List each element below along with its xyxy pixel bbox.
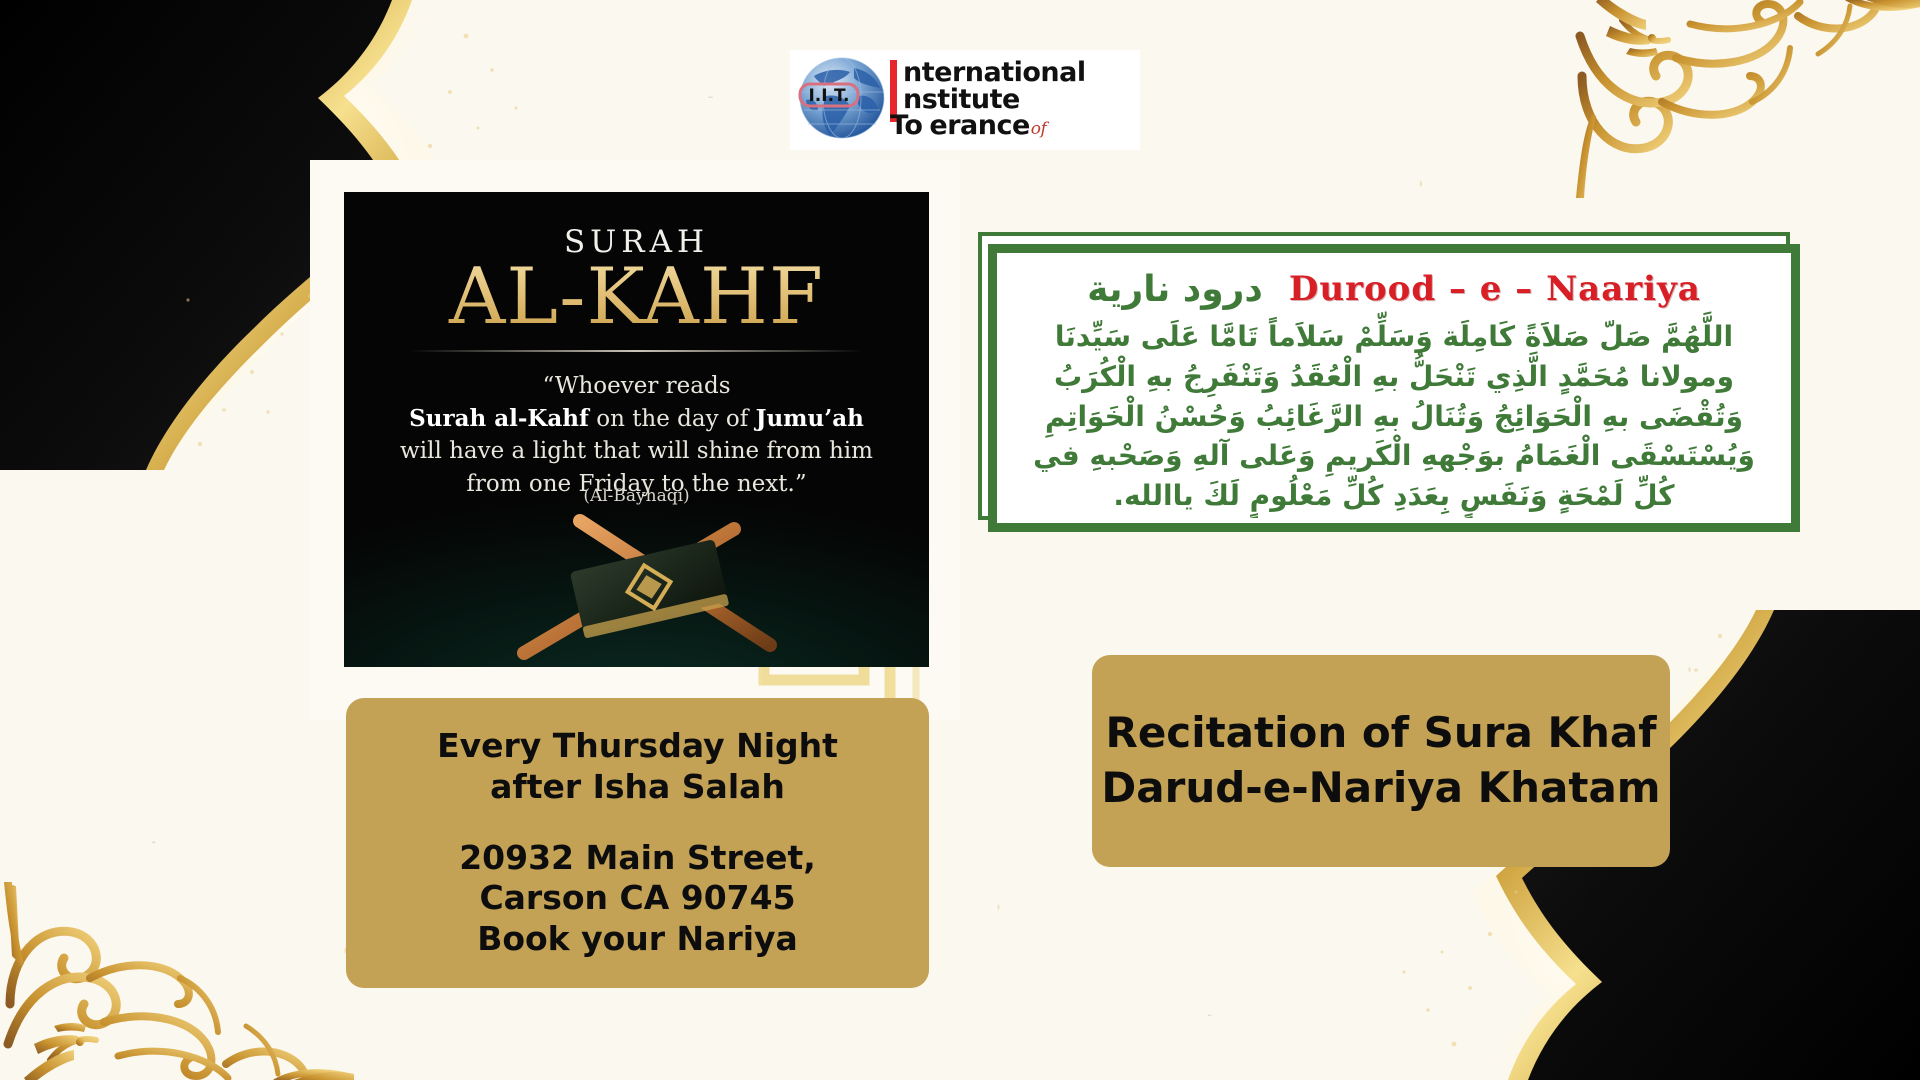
surah-al-kahf-poster: SURAH AL-KAHF “Whoever reads Surah al-Ka… xyxy=(344,192,929,667)
event-title-line-1: Recitation of Sura Khaf xyxy=(1105,706,1656,761)
organization-logo: I.I.T. nternational nstitute Toeranceof xyxy=(790,50,1140,150)
durood-line: كُلِّ لَمْحَةٍ وَنَفَسٍ بِعَدَدِ كُلِّ م… xyxy=(1019,476,1769,516)
poster-title: AL-KAHF xyxy=(344,252,929,342)
poster-quote-bold-surah: Surah al-Kahf xyxy=(409,405,589,432)
durood-line: وَيُسْتَسْقَى الْغَمَامُ بوَجْههِ الْكَر… xyxy=(1019,436,1769,476)
durood-line: اللَّهُمَّ صَلّ صَلاَةً كَامِلَة وَسَلِّ… xyxy=(1019,317,1769,357)
event-line-day: Every Thursday Night xyxy=(437,726,838,767)
logo-iit-text: I.I.T. xyxy=(808,86,849,106)
logo-iit-badge: I.I.T. xyxy=(800,84,858,106)
event-line-street: 20932 Main Street, xyxy=(459,838,816,879)
logo-line-tolerance: Toeranceof xyxy=(890,113,1086,139)
poster-quote-mid: on the day of xyxy=(589,406,756,432)
event-line-cta: Book your Nariya xyxy=(477,919,798,960)
poster-quote-line-2: Surah al-Kahf on the day of Jumu’ah xyxy=(378,403,895,436)
poster-quote-line-3: will have a light that will shine from h… xyxy=(378,435,895,468)
filigree-ornament-bottom-left-icon xyxy=(0,726,354,1080)
logo-of-script: of xyxy=(1031,119,1047,139)
globe-icon: I.I.T. xyxy=(792,52,892,148)
event-line-time: after Isha Salah xyxy=(490,767,785,808)
logo-wordmark: nternational nstitute Toeranceof xyxy=(890,50,1086,150)
poster-quote-bold-jumuah: Jumu’ah xyxy=(756,405,864,432)
logo-tolerance-prefix: To xyxy=(890,110,922,141)
event-title-box: Recitation of Sura Khaf Darud-e-Nariya K… xyxy=(1092,655,1670,867)
event-line-city: Carson CA 90745 xyxy=(479,878,795,919)
flyer-canvas: I.I.T. nternational nstitute Toeranceof xyxy=(0,0,1920,1080)
poster-quote-line-1: “Whoever reads xyxy=(378,370,895,403)
paper-speckle-texture xyxy=(0,0,1920,1080)
durood-arabic-title: درود نارية xyxy=(1087,269,1263,310)
event-title-line-2: Darud-e-Nariya Khatam xyxy=(1101,761,1660,816)
poster-quote: “Whoever reads Surah al-Kahf on the day … xyxy=(378,370,895,501)
durood-english-title: Durood – e – Naariya xyxy=(1289,269,1701,309)
quran-on-rehal-icon xyxy=(484,503,814,667)
poster-divider xyxy=(410,350,863,352)
durood-arabic-text: اللَّهُمَّ صَلّ صَلاَةً كَامِلَة وَسَلِّ… xyxy=(1013,317,1775,516)
durood-line: ومولانا مُحَمَّدٍ الَّذِي تَنْحَلُّ بهِ … xyxy=(1019,357,1769,397)
event-details-box: Every Thursday Night after Isha Salah 20… xyxy=(346,698,929,988)
logo-line-international: nternational xyxy=(890,60,1086,86)
durood-line: وَتُقْضَى بهِ الْحَوَائِجُ وَتُنَالُ بهِ… xyxy=(1019,397,1769,437)
durood-e-naariya-card: درود نارية Durood – e – Naariya اللَّهُم… xyxy=(988,244,1800,532)
logo-tolerance-rest: erance xyxy=(929,110,1029,141)
durood-card-header: درود نارية Durood – e – Naariya xyxy=(1013,261,1775,317)
